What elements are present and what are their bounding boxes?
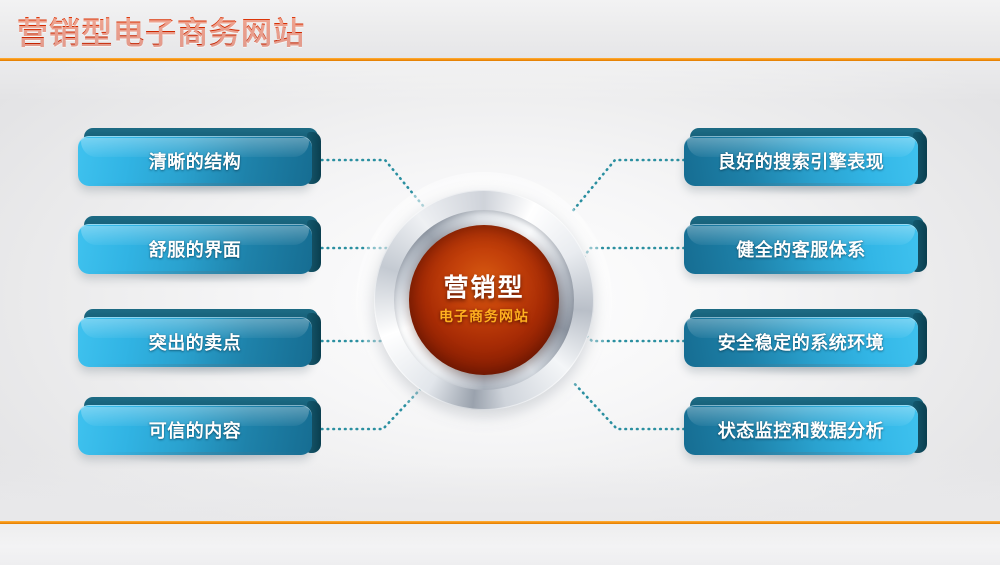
feature-label: 舒服的界面	[149, 236, 242, 262]
feature-label: 状态监控和数据分析	[718, 417, 885, 443]
feature-button-left-2[interactable]: 舒服的界面	[78, 224, 312, 274]
hub-subtitle: 电子商务网站	[439, 306, 529, 326]
feature-button-right-2[interactable]: 健全的客服体系	[684, 224, 918, 274]
feature-button-left-4[interactable]: 可信的内容	[78, 405, 312, 455]
feature-label: 可信的内容	[149, 417, 242, 443]
feature-button-left-1[interactable]: 清晰的结构	[78, 136, 312, 186]
feature-label: 清晰的结构	[149, 148, 242, 174]
feature-button-left-3[interactable]: 突出的卖点	[78, 317, 312, 367]
center-hub[interactable]: 营销型 电子商务网站	[374, 190, 594, 410]
hub-title: 营销型	[443, 274, 524, 302]
feature-button-right-4[interactable]: 状态监控和数据分析	[684, 405, 918, 455]
feature-label: 良好的搜索引擎表现	[718, 148, 885, 174]
feature-label: 安全稳定的系统环境	[718, 329, 885, 355]
hub-disc: 营销型 电子商务网站	[409, 225, 559, 375]
feature-label: 突出的卖点	[149, 329, 242, 355]
feature-label: 健全的客服体系	[736, 236, 866, 262]
feature-button-right-3[interactable]: 安全稳定的系统环境	[684, 317, 918, 367]
feature-button-right-1[interactable]: 良好的搜索引擎表现	[684, 136, 918, 186]
